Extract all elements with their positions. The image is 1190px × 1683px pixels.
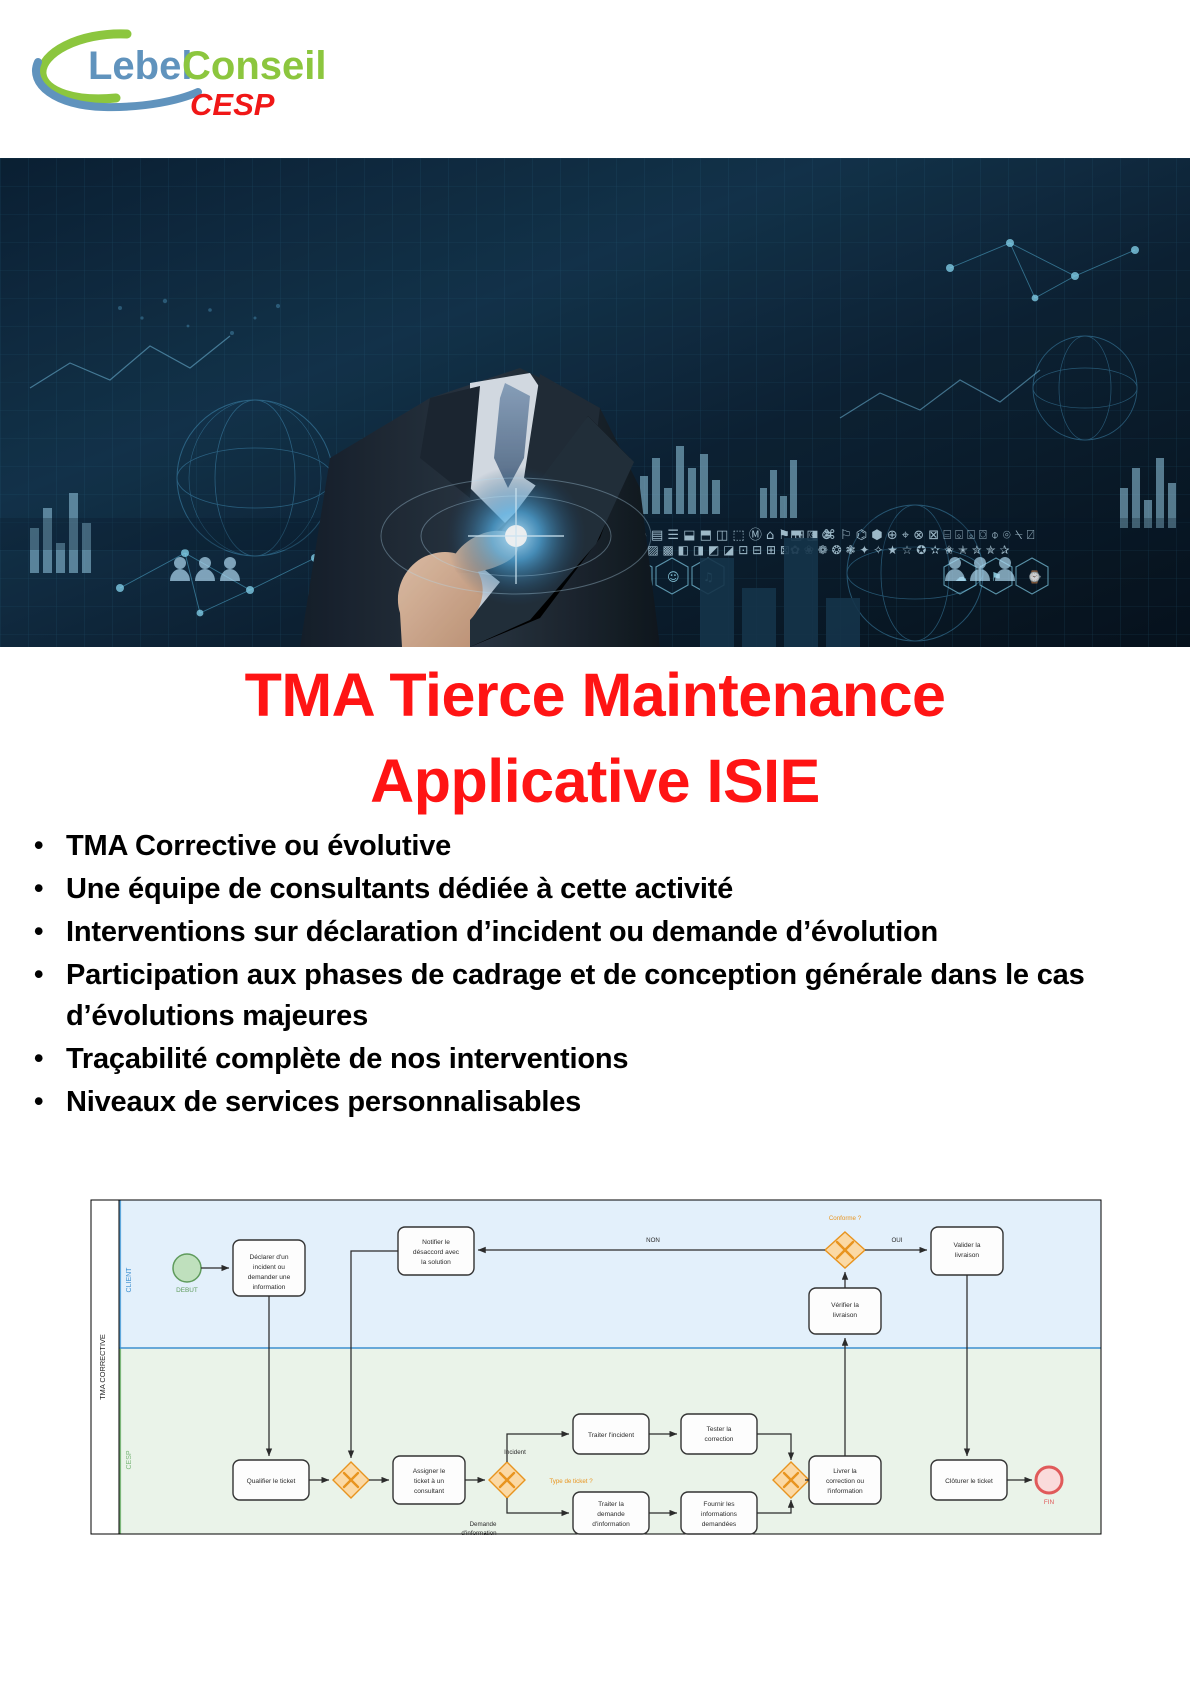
- task-valider-livraison: [931, 1227, 1003, 1275]
- task-notifier-desaccord-line2: désaccord avec: [413, 1249, 460, 1256]
- feature-bullet-list: TMA Corrective ou évolutive Une équipe d…: [18, 826, 1190, 1125]
- page-title: TMA Tierce Maintenance Applicative ISIE: [0, 652, 1190, 824]
- gateway-type-ticket-label: Type de ticket ?: [549, 1478, 593, 1485]
- task-fournir-informations-line2: informations: [701, 1511, 738, 1518]
- start-event: [173, 1254, 201, 1282]
- logo-text-lebel: Lebel: [88, 44, 192, 88]
- lane-label-client: CLIENT: [126, 1267, 133, 1293]
- start-event-label: DEBUT: [176, 1287, 198, 1294]
- logo-text-conseil: Conseil: [182, 44, 326, 88]
- task-verifier-livraison-line2: livraison: [833, 1312, 858, 1319]
- task-traiter-demande-line2: demande: [597, 1511, 625, 1518]
- lane-label-cesp: CESP: [126, 1450, 133, 1469]
- task-livrer-correction-line2: correction ou: [826, 1478, 864, 1485]
- flow-label-oui: OUI: [891, 1237, 902, 1244]
- task-fournir-informations-line1: Fournir les: [703, 1501, 735, 1508]
- list-item: Une équipe de consultants dédiée à cette…: [66, 869, 1190, 910]
- task-valider-livraison-line1: Valider la: [954, 1242, 981, 1249]
- page-title-line-2: Applicative ISIE: [0, 738, 1190, 824]
- flow-label-demande-1: Demande: [470, 1521, 497, 1528]
- task-traiter-incident-line1: Traiter l'incident: [588, 1432, 634, 1439]
- task-declarer-incident-line1: Déclarer d'un: [249, 1254, 288, 1261]
- flow-label-non: NON: [646, 1237, 660, 1244]
- task-qualifier-ticket-line1: Qualifier le ticket: [247, 1478, 296, 1485]
- page-title-line-1: TMA Tierce Maintenance: [0, 652, 1190, 738]
- task-verifier-livraison: [809, 1288, 881, 1334]
- list-item: Participation aux phases de cadrage et d…: [66, 955, 1190, 1037]
- task-declarer-incident-line3: demander une: [248, 1274, 291, 1281]
- task-declarer-incident-line2: incident ou: [253, 1264, 285, 1271]
- list-item: Niveaux de services personnalisables: [66, 1082, 1190, 1123]
- company-logo: Lebel Conseil CESP: [30, 22, 330, 122]
- page-header: Lebel Conseil CESP: [0, 0, 1190, 158]
- list-item: Interventions sur déclaration d’incident…: [66, 912, 1190, 953]
- task-traiter-demande-line3: d'information: [592, 1521, 630, 1528]
- bpmn-process-diagram: TMA CORRECTIVE CLIENT CESP DEBUT Déclare…: [83, 1192, 1103, 1542]
- logo-text-cesp: CESP: [190, 87, 275, 122]
- task-tester-correction: [681, 1414, 757, 1454]
- task-tester-correction-line1: Tester la: [707, 1426, 732, 1433]
- task-fournir-informations-line3: demandées: [702, 1521, 737, 1528]
- task-verifier-livraison-line1: Vérifier la: [831, 1302, 859, 1309]
- task-assigner-ticket-line3: consultant: [414, 1488, 444, 1495]
- task-assigner-ticket-line2: ticket à un: [414, 1478, 444, 1485]
- gateway-conforme-label: Conforme ?: [829, 1215, 862, 1222]
- task-livrer-correction-line1: Livrer la: [833, 1468, 857, 1475]
- task-cloturer-ticket-line1: Clôturer le ticket: [945, 1478, 993, 1485]
- hero-banner-image: △ ⬡ ☼ ♀ ▣ ⊙ ◉ ▤ ☰ ⬓ ⬒ ◫ ⬚ Ⓜ ⌂ ⚑ ⊞ ⌾ ⊛ ⬒ …: [0, 158, 1190, 647]
- task-tester-correction-line2: correction: [705, 1436, 734, 1443]
- list-item: Traçabilité complète de nos intervention…: [66, 1039, 1190, 1080]
- list-item: TMA Corrective ou évolutive: [66, 826, 1190, 867]
- flow-label-incident: Incident: [504, 1449, 526, 1456]
- task-notifier-desaccord-line1: Notifier le: [422, 1239, 450, 1246]
- task-valider-livraison-line2: livraison: [955, 1252, 980, 1259]
- task-notifier-desaccord-line3: la solution: [421, 1259, 451, 1266]
- end-event-label: FIN: [1044, 1499, 1055, 1506]
- task-assigner-ticket-line1: Assigner le: [413, 1468, 446, 1475]
- task-livrer-correction-line3: l'information: [827, 1488, 863, 1495]
- flow-label-demande-2: d'information: [461, 1530, 497, 1537]
- end-event: [1036, 1467, 1062, 1493]
- task-declarer-incident-line4: information: [253, 1284, 286, 1291]
- pool-title: TMA CORRECTIVE: [98, 1334, 107, 1400]
- task-traiter-demande-line1: Traiter la: [598, 1501, 624, 1508]
